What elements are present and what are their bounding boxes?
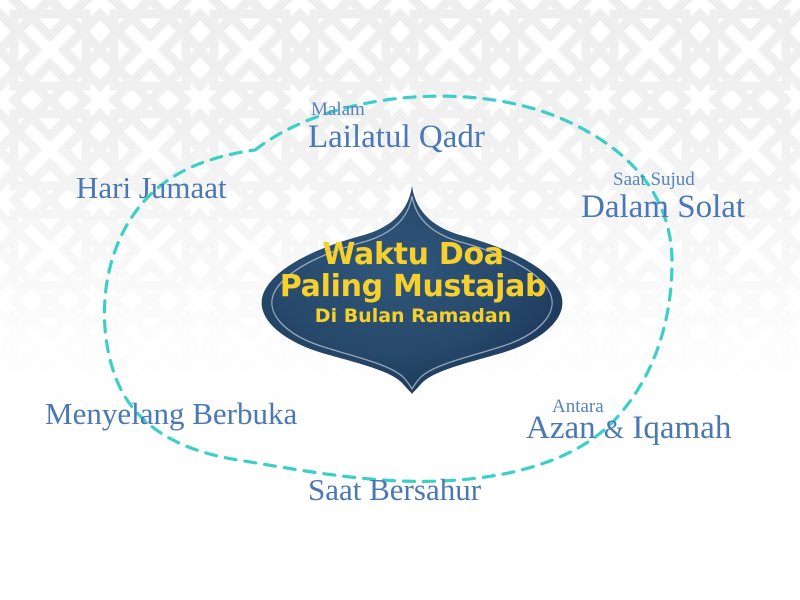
label-azan-iqamah-headline: Azan & Iqamah [526, 412, 731, 445]
label-azan-iqamah: Antara Azan & Iqamah [526, 412, 731, 445]
label-hari-jumaat-headline: Hari Jumaat [76, 172, 227, 203]
label-menyelang-berbuka-headline: Menyelang Berbuka [45, 398, 297, 429]
label-dalam-solat: Saat Sujud Dalam Solat [581, 170, 745, 224]
label-azan-iqamah-part2: Iqamah [624, 410, 731, 446]
label-hari-jumaat: Hari Jumaat [76, 172, 227, 203]
label-dalam-solat-eyebrow: Saat Sujud [613, 170, 745, 189]
badge-line-1: Waktu Doa [322, 239, 503, 270]
label-lailatul-qadr-eyebrow: Malam [311, 100, 485, 119]
badge-text-block: Waktu Doa Paling Mustajab Di Bulan Ramad… [260, 185, 566, 381]
label-lailatul-qadr-headline: Lailatul Qadr [308, 121, 485, 154]
label-saat-bersahur-headline: Saat Bersahur [308, 474, 481, 505]
label-menyelang-berbuka: Menyelang Berbuka [45, 398, 297, 429]
label-lailatul-qadr: Malam Lailatul Qadr [308, 100, 485, 154]
badge-line-3: Di Bulan Ramadan [315, 307, 511, 327]
badge-line-2: Paling Mustajab [280, 271, 546, 302]
label-saat-bersahur: Saat Bersahur [308, 474, 481, 505]
label-azan-iqamah-ampersand: & [604, 415, 624, 444]
ramadan-prayer-times-poster: Waktu Doa Paling Mustajab Di Bulan Ramad… [0, 0, 800, 600]
label-dalam-solat-headline: Dalam Solat [581, 191, 745, 224]
label-azan-iqamah-part1: Azan [526, 410, 604, 446]
